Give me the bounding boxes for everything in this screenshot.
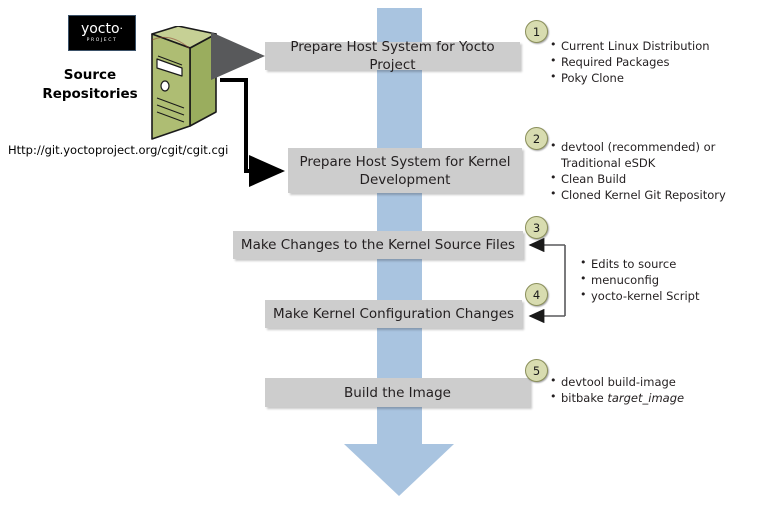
- step-number-2: 2: [525, 127, 548, 150]
- note-item-prefix: bitbake: [561, 391, 607, 405]
- note-item: bitbake target_image: [550, 390, 765, 406]
- source-repositories-url: Http://git.yoctoproject.org/cgit/cgit.cg…: [8, 143, 228, 157]
- flow-spine-arrowhead: [344, 444, 454, 496]
- process-box-2[interactable]: Prepare Host System for Kernel Developme…: [288, 148, 522, 193]
- note-item: yocto-kernel Script: [580, 288, 760, 304]
- note-item: Required Packages: [550, 54, 765, 70]
- yocto-logo-subtitle: PROJECT: [87, 37, 118, 44]
- note-item: Poky Clone: [550, 70, 765, 86]
- note-item: Clean Build: [550, 171, 765, 187]
- yocto-project-logo: yocto· PROJECT: [68, 15, 136, 51]
- note-item: menuconfig: [580, 272, 760, 288]
- process-box-4[interactable]: Make Kernel Configuration Changes: [265, 300, 522, 328]
- process-box-3[interactable]: Make Changes to the Kernel Source Files: [233, 231, 523, 259]
- note-item: Edits to source: [580, 256, 760, 272]
- diagram-canvas: yocto· PROJECT Source Repositories Http:…: [0, 0, 769, 517]
- notes-steps-3-and-4: Edits to source menuconfig yocto-kernel …: [580, 256, 760, 304]
- step-number-4: 4: [525, 283, 548, 306]
- server-icon: [132, 26, 218, 140]
- notes-step-2: devtool (recommended) or Traditional eSD…: [550, 139, 765, 203]
- note-item: Current Linux Distribution: [550, 38, 765, 54]
- note-item: devtool (recommended) or Traditional eSD…: [550, 139, 765, 171]
- process-box-1[interactable]: Prepare Host System for Yocto Project: [265, 42, 520, 70]
- step-number-5: 5: [525, 359, 548, 382]
- notes-step-5: devtool build-image bitbake target_image: [550, 374, 765, 406]
- yocto-logo-dot: ·: [120, 22, 124, 35]
- note-item: Cloned Kernel Git Repository: [550, 187, 765, 203]
- step-number-3: 3: [525, 216, 548, 239]
- note-item-emphasis: target_image: [607, 391, 684, 405]
- yocto-logo-wordmark: yocto·: [81, 22, 123, 36]
- step-number-1: 1: [525, 20, 548, 43]
- notes-step-1: Current Linux Distribution Required Pack…: [550, 38, 765, 86]
- process-box-5[interactable]: Build the Image: [265, 378, 530, 407]
- note-item: devtool build-image: [550, 374, 765, 390]
